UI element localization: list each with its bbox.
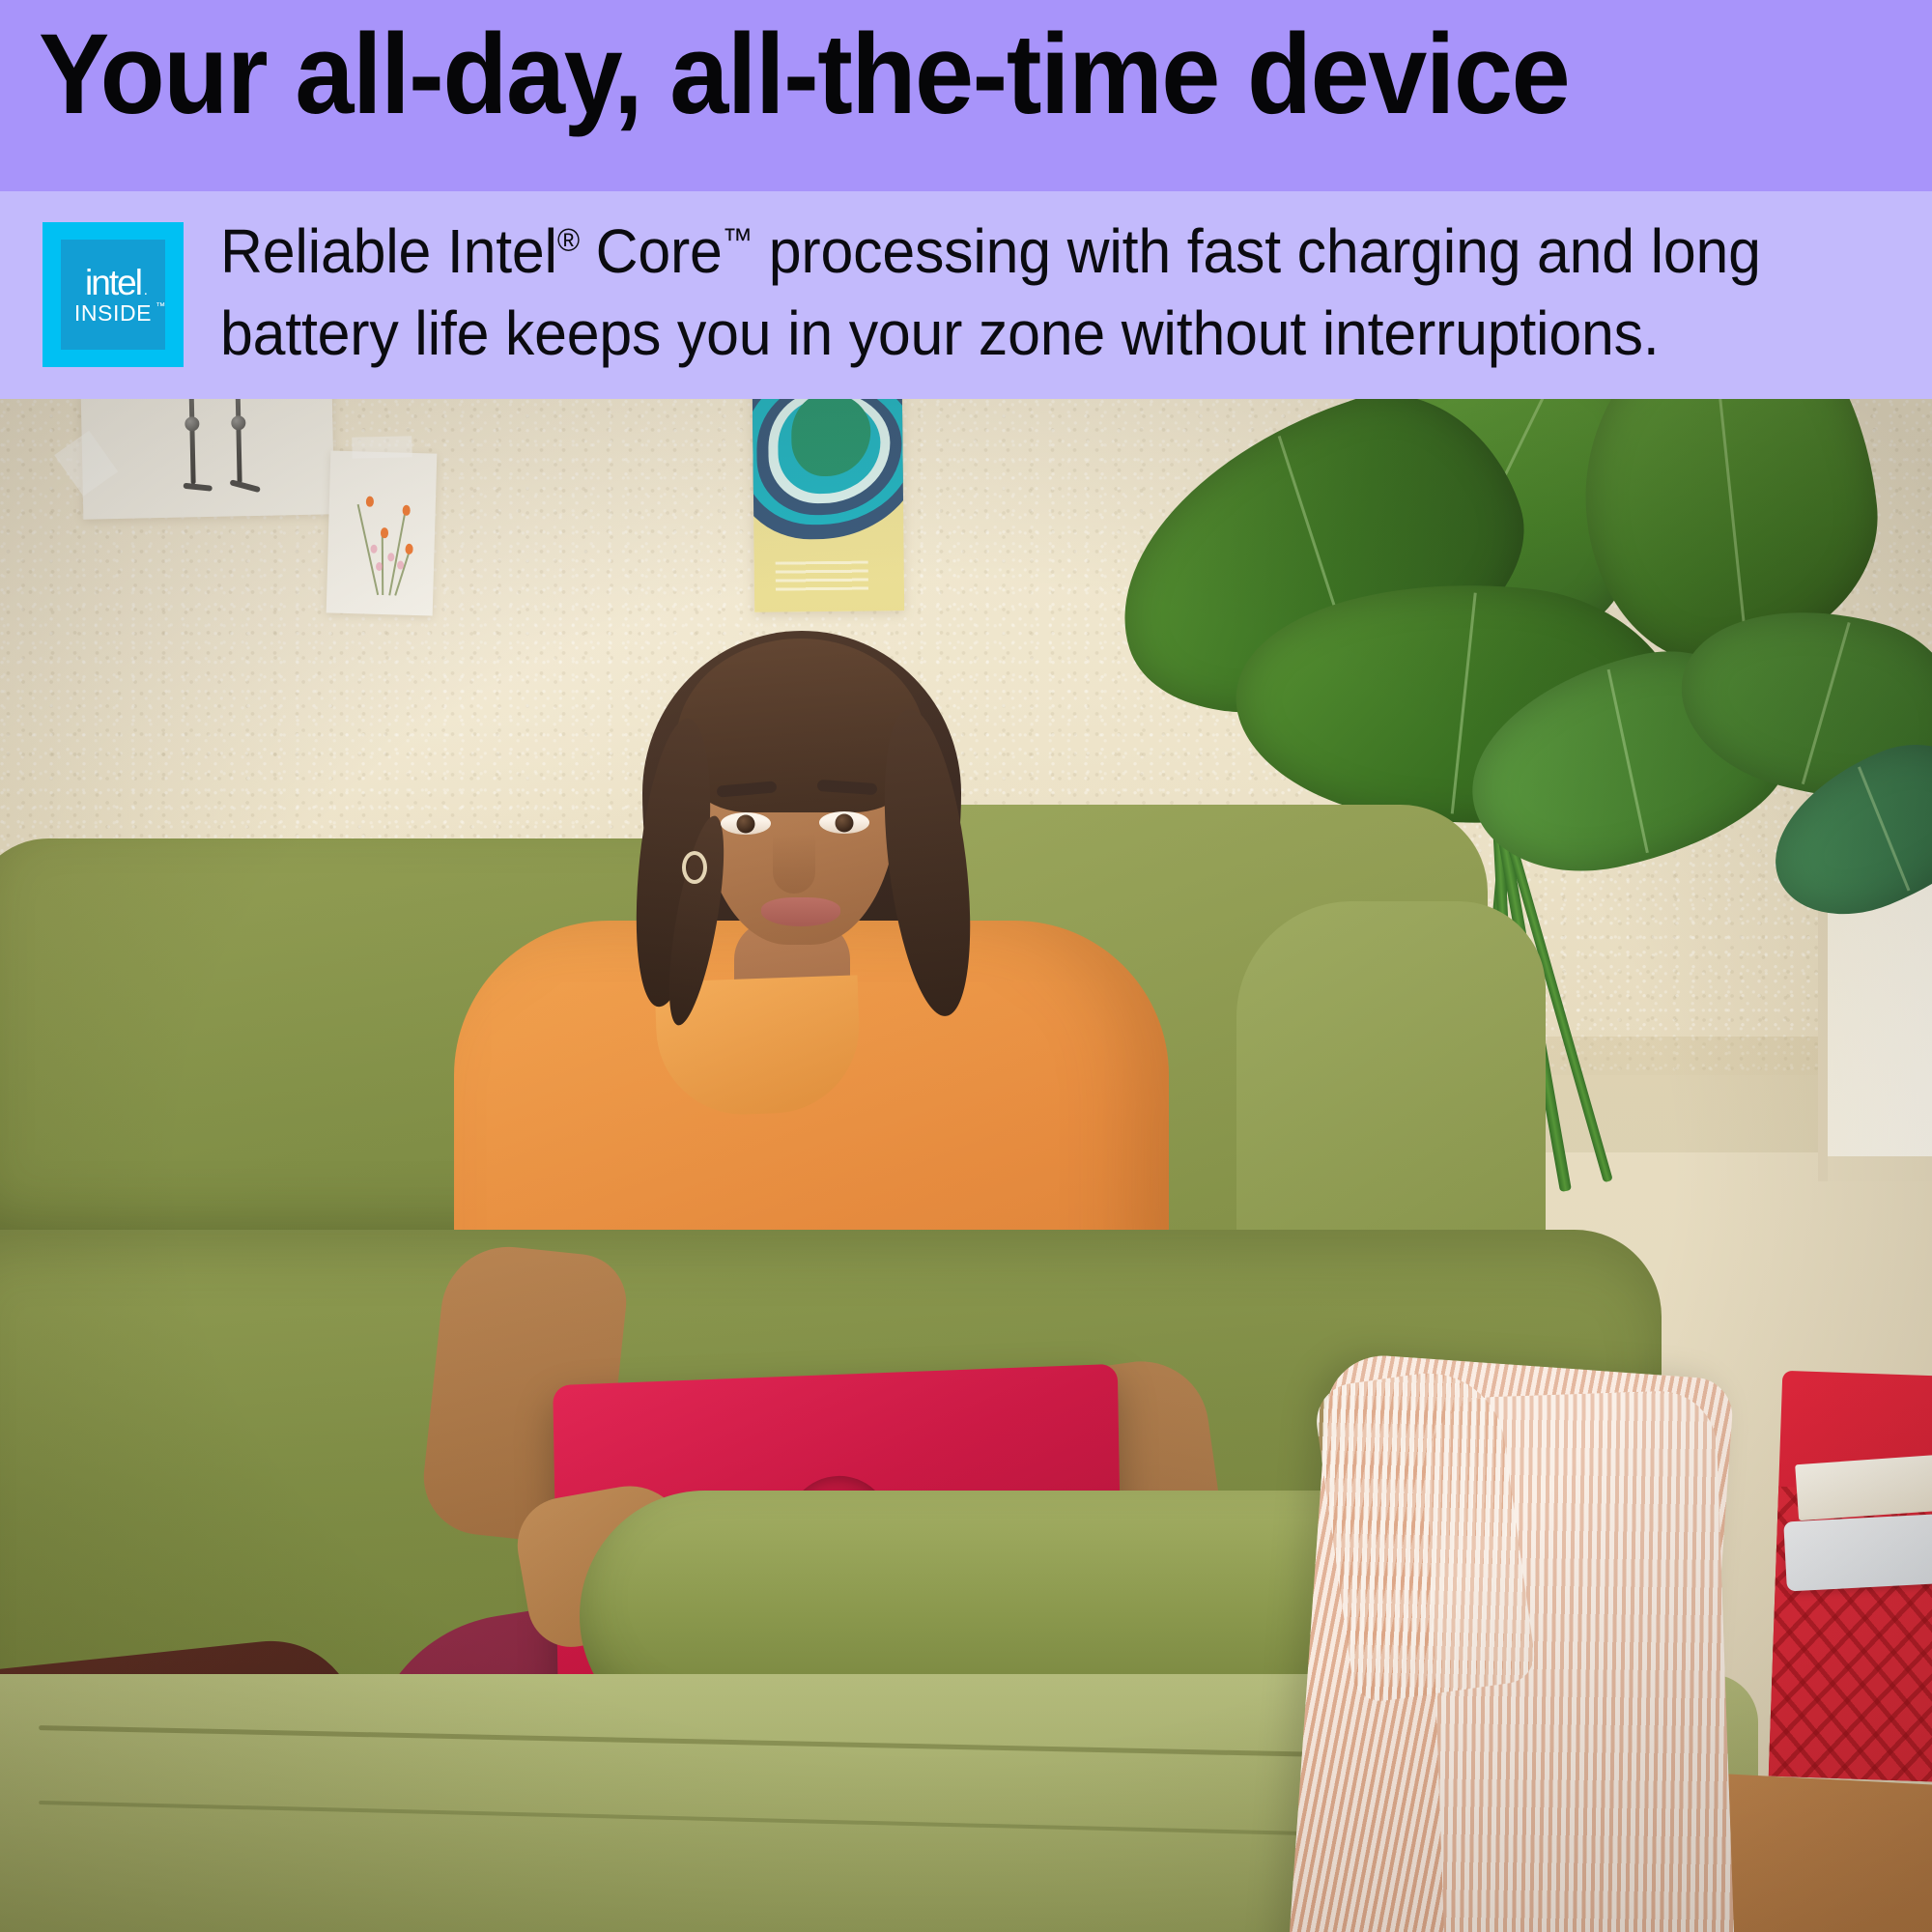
knee-joint-right [231, 415, 245, 430]
marketing-banner: Your all-day, all-the-time device intel.… [0, 0, 1932, 1932]
lifestyle-photo: hp [0, 399, 1932, 1932]
intel-inside-text: INSIDE [74, 300, 152, 326]
eye-right [819, 811, 869, 834]
knee-joint-left [185, 416, 199, 431]
tape-strip [352, 436, 412, 459]
intel-inside-tagline: INSIDE™ [74, 302, 152, 325]
hoop-earring [682, 851, 707, 884]
intel-wordmark: intel. [85, 265, 141, 300]
flower-leaf [387, 553, 394, 561]
intel-trademark-mark: ™ [156, 302, 165, 312]
flower-bud [381, 527, 388, 538]
intel-inside-badge: intel. INSIDE™ [43, 222, 184, 367]
trademark-symbol: ™ [723, 223, 753, 259]
pupil [737, 814, 755, 833]
crate-phone [1783, 1513, 1932, 1591]
foot-left [183, 483, 212, 492]
bone-right [236, 399, 242, 483]
subhead-segment-4: battery life keeps you in your zone with… [220, 298, 1660, 368]
anatomical-leg-sketch-artwork [81, 399, 335, 520]
eye-left [721, 812, 771, 835]
subhead-segment-1: Reliable Intel [220, 216, 557, 286]
registered-symbol: ® [557, 223, 580, 259]
intel-registered-mark: . [144, 283, 148, 298]
flower-bud [403, 505, 411, 516]
intel-badge-inner: intel. INSIDE™ [61, 240, 165, 350]
flower-bud [405, 544, 412, 554]
bone-left [189, 399, 196, 484]
flower-bud [366, 497, 374, 507]
subhead-band: intel. INSIDE™ Reliable Intel® Core™ pro… [0, 191, 1932, 399]
page-title: Your all-day, all-the-time device [39, 17, 1569, 131]
subhead-segment-2: Core [580, 216, 723, 286]
foot-right [229, 479, 260, 493]
nose [773, 834, 815, 894]
crate-paper [1795, 1455, 1932, 1520]
lips [761, 897, 840, 926]
teal-abstract-poster [753, 399, 904, 612]
subhead-segment-3: processing with fast charging and long [753, 216, 1761, 286]
intel-wordmark-text: intel [85, 263, 141, 302]
pupil [836, 813, 854, 832]
subhead-copy: Reliable Intel® Core™ processing with fa… [220, 211, 1828, 375]
poster-caption-text [776, 561, 868, 591]
flower-leaf [370, 545, 377, 554]
floral-watercolor-artwork [327, 450, 438, 615]
headline-band: Your all-day, all-the-time device [0, 0, 1932, 191]
